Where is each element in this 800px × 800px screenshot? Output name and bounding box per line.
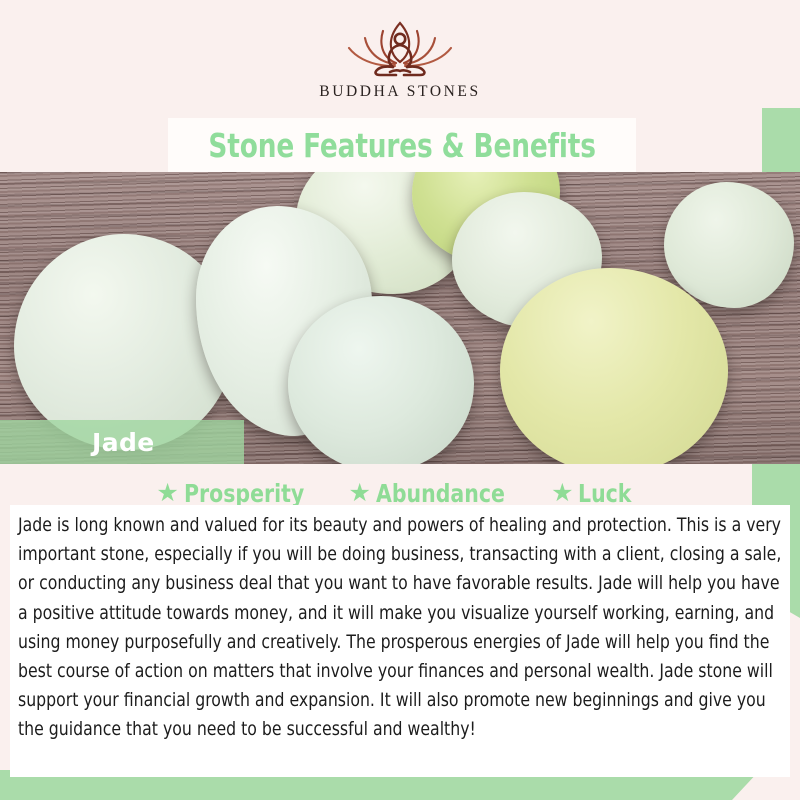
star-icon: ★	[348, 481, 370, 506]
page-title: Stone Features & Benefits	[208, 126, 595, 165]
benefit-item: ★ Prosperity	[156, 479, 330, 508]
jade-stone	[664, 182, 794, 308]
brand-name: BUDDHA STONES	[319, 83, 480, 101]
description-panel: Jade is long known and valued for its be…	[10, 505, 790, 777]
star-icon: ★	[551, 481, 573, 506]
description-text: Jade is long known and valued for its be…	[18, 511, 782, 745]
benefit-label: Prosperity	[184, 479, 304, 508]
benefit-label: Luck	[578, 479, 631, 508]
benefit-item: ★ Abundance	[348, 479, 533, 508]
star-icon: ★	[156, 481, 178, 506]
benefit-item: ★ Luck	[551, 479, 644, 508]
brand-header: BUDDHA STONES	[0, 0, 800, 118]
stone-info-card: BUDDHA STONES Stone Features & Benefits …	[0, 0, 800, 800]
jade-stone	[288, 296, 474, 464]
title-banner: Stone Features & Benefits	[168, 118, 636, 172]
lotus-meditation-icon	[338, 18, 462, 80]
stone-name-band: Jade	[0, 420, 244, 464]
benefit-label: Abundance	[376, 479, 505, 508]
stone-name-label: Jade	[92, 428, 155, 457]
